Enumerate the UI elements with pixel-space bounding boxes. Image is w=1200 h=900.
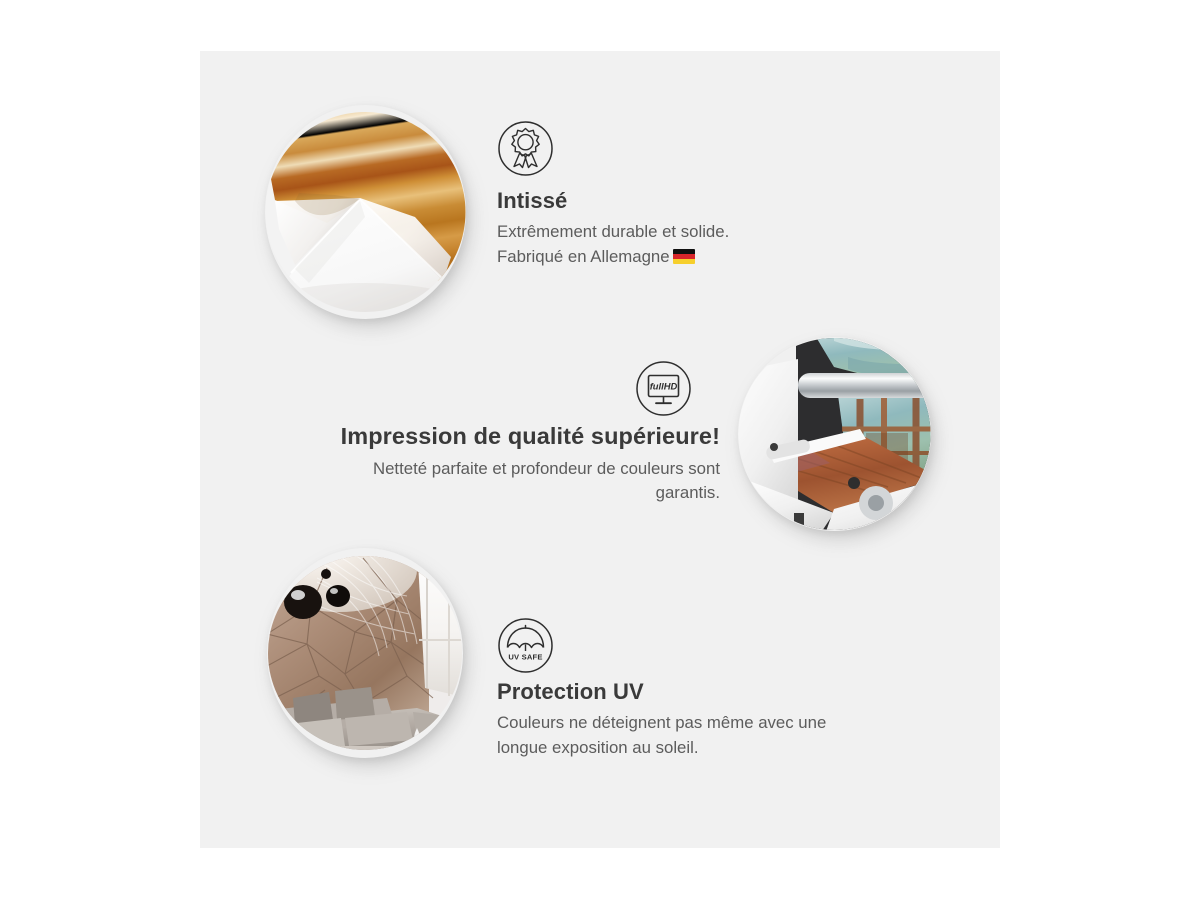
content-panel: Intissé Extrêmement durable et solide. F…	[200, 51, 1000, 848]
feature-desc-line1: Extrêmement durable et solide.	[497, 222, 729, 241]
uv-safe-icon-label: UV SAFE	[508, 653, 542, 662]
feature-desc-protection-uv: Couleurs ne déteignent pas même avec une…	[497, 711, 927, 760]
uv-safe-umbrella-icon: UV SAFE	[497, 617, 554, 674]
printing-press-photo	[738, 337, 931, 531]
feature-title-intisse: Intissé	[497, 188, 917, 213]
feature-title-impression: Impression de qualité supérieure!	[260, 423, 720, 450]
fullhd-icon-label: fullHD	[650, 381, 678, 392]
feature-desc-line1: Couleurs ne déteignent pas même avec une	[497, 713, 826, 732]
living-room-wallpaper-photo	[267, 548, 463, 758]
feature-desc-impression: Netteté parfaite et profondeur de couleu…	[260, 457, 720, 506]
feature-text-impression: Impression de qualité supérieure! Nettet…	[260, 423, 720, 506]
feature-desc-line2: garantis.	[656, 483, 720, 502]
feature-desc-line1: Netteté parfaite et profondeur de couleu…	[373, 459, 720, 478]
fullhd-monitor-icon: fullHD	[635, 360, 692, 417]
screenshot-stage: Intissé Extrêmement durable et solide. F…	[0, 0, 1200, 900]
feature-desc-intisse: Extrêmement durable et solide. Fabriqué …	[497, 220, 917, 269]
feature-desc-line2: longue exposition au soleil.	[497, 738, 699, 757]
wallpaper-roll-peel-photo	[265, 105, 466, 319]
award-rosette-icon	[497, 120, 554, 177]
feature-text-protection-uv: Protection UV Couleurs ne déteignent pas…	[497, 679, 927, 760]
feature-desc-line2: Fabriqué en Allemagne	[497, 247, 670, 266]
feature-text-intisse: Intissé Extrêmement durable et solide. F…	[497, 188, 917, 269]
german-flag-icon	[673, 249, 695, 264]
feature-title-protection-uv: Protection UV	[497, 679, 927, 704]
